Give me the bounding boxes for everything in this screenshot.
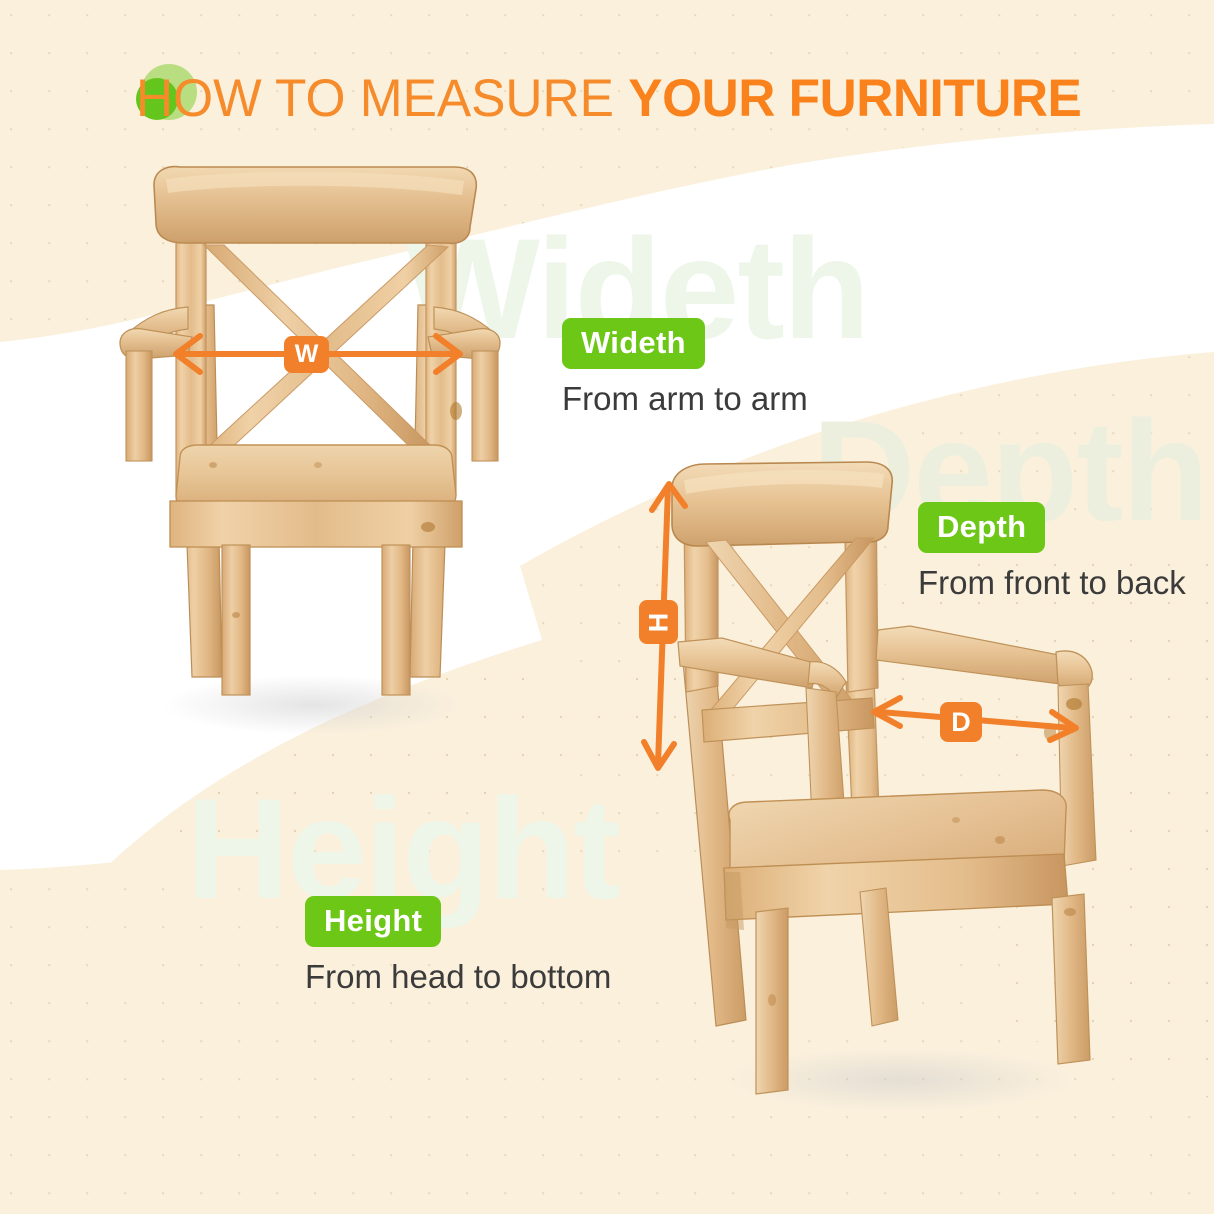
height-badge: Height [305,896,441,947]
page-title-bold: YOUR FURNITURE [628,69,1081,128]
width-marker-label: W [284,336,329,373]
page-title-text: HOW TO MEASURE YOUR FURNITURE [136,68,1081,130]
page-title-plain: HOW TO MEASURE [136,69,628,128]
width-marker-text: W [295,342,319,367]
page-title: HOW TO MEASURE YOUR FURNITURE [136,64,1111,134]
height-marker-label: H [639,600,678,644]
width-caption: From arm to arm [562,380,808,418]
depth-caption: From front to back [918,564,1186,602]
depth-label-group: Depth From front to back [918,502,1186,602]
depth-marker-text: D [951,709,971,736]
height-marker-text: H [645,612,672,632]
depth-badge: Depth [918,502,1045,553]
height-caption: From head to bottom [305,958,611,996]
width-label-group: Wideth From arm to arm [562,318,808,418]
depth-marker-label: D [940,702,982,742]
height-label-group: Height From head to bottom [305,896,611,996]
chair-front-view [118,165,498,755]
infographic-canvas: Wideth Depth Height HOW TO MEASURE YOUR … [0,0,1214,1214]
width-badge: Wideth [562,318,705,369]
